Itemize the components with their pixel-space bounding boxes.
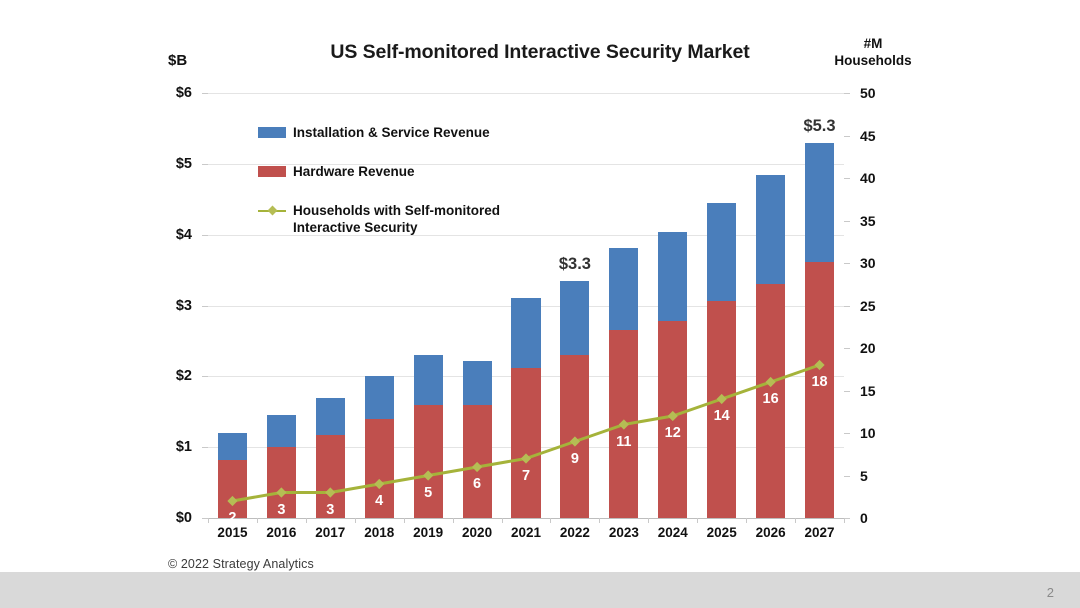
bar-column[interactable]: 14 — [707, 203, 736, 518]
left-axis-tick-label: $2 — [176, 368, 192, 384]
chart-legend: Installation & Service Revenue Hardware … — [258, 124, 523, 258]
x-axis-tick-mark — [795, 518, 796, 523]
bar-segment-installation[interactable] — [365, 376, 394, 419]
legend-item-installation: Installation & Service Revenue — [258, 124, 523, 142]
right-axis-tick-mark — [844, 391, 850, 392]
line-point-label: 16 — [763, 391, 779, 407]
slide-canvas: US Self-monitored Interactive Security M… — [0, 0, 1080, 608]
left-axis-title: $B — [168, 52, 187, 69]
right-axis-tick-label: 15 — [860, 383, 876, 399]
legend-label-hardware: Hardware Revenue — [293, 163, 415, 181]
line-point-label: 9 — [571, 451, 579, 467]
bar-total-annotation: $3.3 — [559, 255, 591, 274]
legend-label-households: Households with Self-monitored Interacti… — [293, 202, 523, 238]
right-axis-tick-mark — [844, 136, 850, 137]
left-axis-tick-label: $4 — [176, 227, 192, 243]
x-axis-tick-label: 2026 — [756, 525, 786, 540]
bar-segment-installation[interactable] — [756, 175, 785, 283]
x-axis-tick-mark — [257, 518, 258, 523]
bar-column[interactable]: 11 — [609, 248, 638, 518]
line-point-label: 7 — [522, 468, 530, 484]
bar-column[interactable]: 9$3.3 — [560, 281, 589, 518]
bar-segment-installation[interactable] — [218, 433, 247, 460]
right-axis-tick-label: 20 — [860, 340, 876, 356]
x-axis-tick-mark — [648, 518, 649, 523]
legend-swatch-blue-icon — [258, 127, 286, 138]
page-number: 2 — [1047, 585, 1054, 600]
right-axis-tick-label: 0 — [860, 510, 868, 526]
x-axis-tick-label: 2024 — [658, 525, 688, 540]
bar-segment-hardware[interactable] — [463, 405, 492, 518]
bar-segment-installation[interactable] — [511, 298, 540, 368]
bar-segment-installation[interactable] — [316, 398, 345, 436]
left-axis-tick-mark — [202, 164, 208, 165]
left-axis-tick-label: $1 — [176, 439, 192, 455]
x-axis-tick-label: 2027 — [805, 525, 835, 540]
x-axis-tick-mark — [746, 518, 747, 523]
bar-total-annotation: $5.3 — [803, 117, 835, 136]
gridline — [208, 93, 844, 94]
gridline — [208, 518, 844, 519]
right-axis-tick-label: 25 — [860, 298, 876, 314]
line-point-label: 3 — [277, 502, 285, 518]
bar-column[interactable]: 12 — [658, 232, 687, 518]
x-axis-tick-mark — [404, 518, 405, 523]
line-point-label: 18 — [811, 374, 827, 390]
right-axis-title: #M Households — [818, 36, 928, 70]
right-axis-tick-label: 45 — [860, 128, 876, 144]
bar-column[interactable]: 2 — [218, 433, 247, 518]
right-axis-tick-label: 40 — [860, 170, 876, 186]
right-axis-tick-label: 50 — [860, 85, 876, 101]
right-axis-tick-mark — [844, 263, 850, 264]
x-axis-tick-label: 2022 — [560, 525, 590, 540]
x-axis-tick-label: 2021 — [511, 525, 541, 540]
slide-footer-bar: 2 — [0, 572, 1080, 608]
legend-label-installation: Installation & Service Revenue — [293, 124, 490, 142]
bar-segment-hardware[interactable] — [658, 321, 687, 518]
bar-column[interactable]: 4 — [365, 376, 394, 518]
bar-column[interactable]: 6 — [463, 361, 492, 518]
x-axis-tick-mark — [453, 518, 454, 523]
bar-segment-installation[interactable] — [414, 355, 443, 405]
bar-segment-hardware[interactable] — [414, 405, 443, 518]
bar-segment-installation[interactable] — [707, 203, 736, 301]
right-axis-tick-mark — [844, 178, 850, 179]
x-axis-tick-label: 2015 — [217, 525, 247, 540]
line-point-label: 4 — [375, 493, 383, 509]
bar-segment-installation[interactable] — [463, 361, 492, 405]
bar-column[interactable]: 18$5.3 — [805, 143, 834, 518]
bar-segment-hardware[interactable] — [609, 330, 638, 518]
right-axis-tick-label: 30 — [860, 255, 876, 271]
left-axis-tick-mark — [202, 376, 208, 377]
x-axis-tick-label: 2017 — [315, 525, 345, 540]
x-axis-tick-mark — [208, 518, 209, 523]
legend-item-households: Households with Self-monitored Interacti… — [258, 202, 523, 238]
left-axis-tick-mark — [202, 447, 208, 448]
line-point-label: 11 — [616, 434, 631, 450]
chart-container: US Self-monitored Interactive Security M… — [0, 0, 1080, 570]
left-axis-tick-mark — [202, 306, 208, 307]
bar-column[interactable]: 16 — [756, 175, 785, 518]
x-axis-tick-label: 2025 — [707, 525, 737, 540]
bar-segment-installation[interactable] — [609, 248, 638, 330]
left-axis-tick-mark — [202, 235, 208, 236]
left-axis-tick-label: $3 — [176, 298, 192, 314]
right-axis-title-line2: Households — [818, 53, 928, 70]
right-axis-tick-mark — [844, 221, 850, 222]
line-point-label: 3 — [326, 502, 334, 518]
bar-segment-installation[interactable] — [560, 281, 589, 355]
x-axis-tick-label: 2016 — [266, 525, 296, 540]
x-axis-tick-mark — [550, 518, 551, 523]
line-point-label: 5 — [424, 485, 432, 501]
line-point-label: 2 — [228, 510, 236, 526]
bar-segment-installation[interactable] — [267, 415, 296, 447]
bar-column[interactable]: 3 — [316, 398, 345, 518]
right-axis-tick-label: 35 — [860, 213, 876, 229]
line-point-label: 6 — [473, 476, 481, 492]
x-axis-tick-mark — [599, 518, 600, 523]
x-axis-tick-label: 2019 — [413, 525, 443, 540]
right-axis-tick-mark — [844, 348, 850, 349]
left-axis-tick-label: $6 — [176, 85, 192, 101]
bar-segment-installation[interactable] — [805, 143, 834, 262]
x-axis-tick-mark — [844, 518, 845, 523]
left-axis-tick-label: $5 — [176, 156, 192, 172]
line-point-label: 12 — [665, 425, 681, 441]
copyright-notice: © 2022 Strategy Analytics — [168, 557, 314, 571]
bar-segment-hardware[interactable] — [511, 368, 540, 518]
bar-segment-hardware[interactable] — [560, 355, 589, 518]
chart-title: US Self-monitored Interactive Security M… — [230, 41, 850, 64]
left-axis-tick-label: $0 — [176, 510, 192, 526]
right-axis-tick-mark — [844, 433, 850, 434]
right-axis-tick-label: 10 — [860, 425, 876, 441]
bar-column[interactable]: 3 — [267, 415, 296, 518]
bar-column[interactable]: 7 — [511, 298, 540, 518]
x-axis-tick-mark — [502, 518, 503, 523]
x-axis-tick-mark — [355, 518, 356, 523]
legend-line-marker-icon — [258, 204, 286, 218]
x-axis-tick-label: 2023 — [609, 525, 639, 540]
legend-item-hardware: Hardware Revenue — [258, 163, 523, 181]
right-axis-tick-mark — [844, 476, 850, 477]
x-axis-tick-mark — [306, 518, 307, 523]
x-axis-tick-label: 2018 — [364, 525, 394, 540]
x-axis-tick-mark — [697, 518, 698, 523]
right-axis-title-line1: #M — [818, 36, 928, 53]
bar-column[interactable]: 5 — [414, 355, 443, 518]
right-axis-tick-mark — [844, 93, 850, 94]
legend-swatch-red-icon — [258, 166, 286, 177]
right-axis-tick-label: 5 — [860, 468, 868, 484]
x-axis-tick-label: 2020 — [462, 525, 492, 540]
line-point-label: 14 — [714, 408, 730, 424]
right-axis-tick-mark — [844, 306, 850, 307]
bar-segment-installation[interactable] — [658, 232, 687, 321]
left-axis-tick-mark — [202, 93, 208, 94]
